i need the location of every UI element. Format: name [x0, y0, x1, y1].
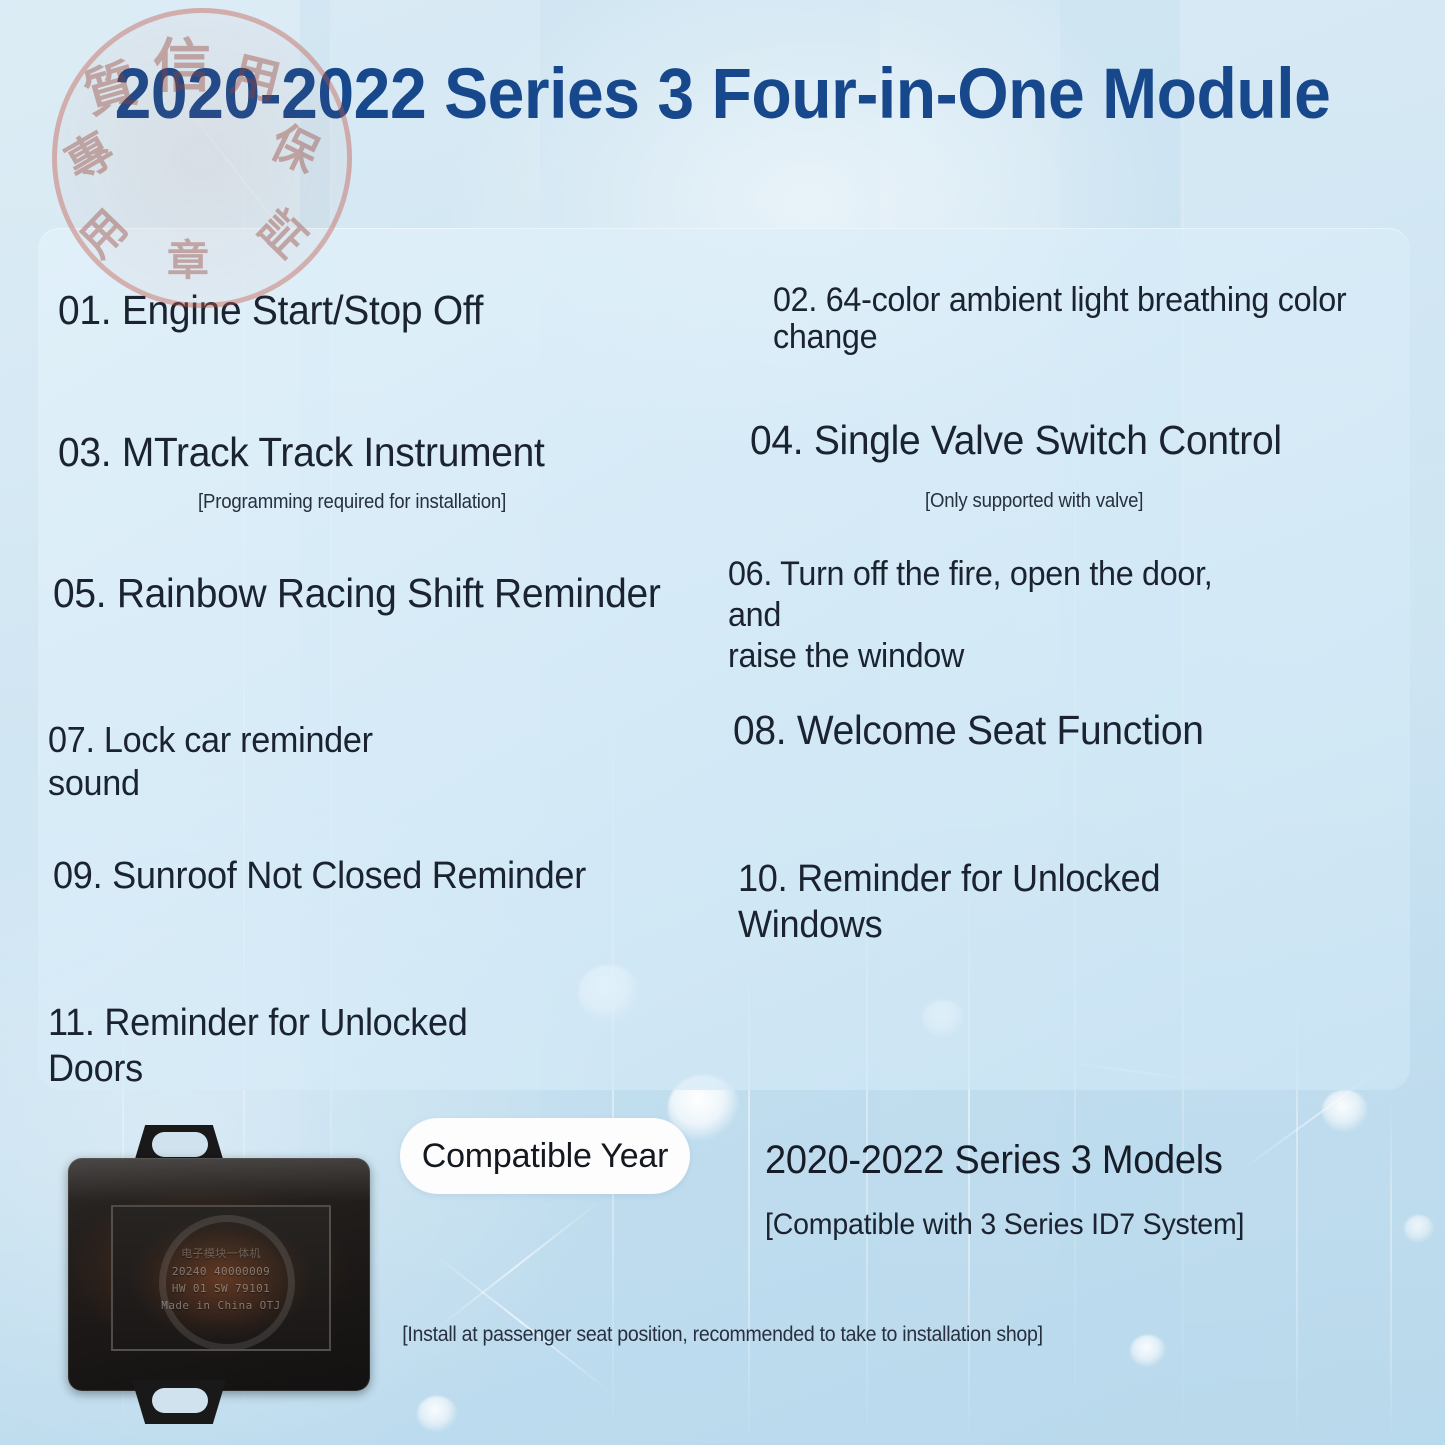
- installation-note: [Install at passenger seat position, rec…: [51, 1323, 1395, 1347]
- features-card: 01. Engine Start/Stop Off 02. 64-color a…: [38, 228, 1410, 1090]
- module-gloss: [68, 1158, 370, 1202]
- feature-label: 04. Single Valve Switch Control: [750, 418, 1377, 462]
- compatible-models: 2020-2022 Series 3 Models: [765, 1138, 1223, 1183]
- feature-item-10: 10. Reminder for Unlocked Windows: [738, 836, 1298, 968]
- feature-item-03: 03. MTrack Track Instrument: [58, 412, 718, 492]
- mounting-hole-bottom: [152, 1388, 208, 1413]
- feature-item-09: 09. Sunroof Not Closed Reminder: [53, 838, 693, 915]
- feature-note-04: [Only supported with valve]: [925, 490, 1143, 513]
- feature-item-04: 04. Single Valve Switch Control: [750, 400, 1410, 480]
- feature-label: 11. Reminder for Unlocked Doors: [48, 1000, 580, 1093]
- feature-item-06: 06. Turn off the fire, open the door, an…: [728, 534, 1288, 697]
- quality-stamp-watermark: 質 信 用 保 証 專 用 章: [52, 8, 352, 308]
- feature-item-11: 11. Reminder for Unlocked Doors: [48, 980, 608, 1112]
- feature-label: 06. Turn off the fire, open the door, an…: [728, 554, 1260, 678]
- feature-label: 10. Reminder for Unlocked Windows: [738, 856, 1270, 949]
- feature-item-05: 05. Rainbow Racing Shift Reminder: [53, 553, 713, 633]
- feature-label: 05. Rainbow Racing Shift Reminder: [53, 571, 680, 615]
- feature-label: 07. Lock car reminder sound: [48, 718, 580, 806]
- feature-label: 09. Sunroof Not Closed Reminder: [53, 856, 661, 897]
- feature-note-03: [Programming required for installation]: [198, 491, 506, 514]
- module-body: 电子模块一体机 20240 40000009 HW 01 SW 79101 Ma…: [68, 1158, 370, 1391]
- compatible-year-pill: Compatible Year: [400, 1118, 690, 1194]
- product-infographic: 2020-2022 Series 3 Four-in-One Module 01…: [0, 0, 1445, 1445]
- feature-item-02: 02. 64-color ambient light breathing col…: [773, 264, 1413, 373]
- feature-label: 02. 64-color ambient light breathing col…: [773, 282, 1381, 355]
- mounting-hole-top: [152, 1132, 208, 1157]
- feature-item-08: 08. Welcome Seat Function: [733, 690, 1373, 770]
- compatible-models-note: [Compatible with 3 Series ID7 System]: [765, 1208, 1244, 1242]
- feature-label: 03. MTrack Track Instrument: [58, 430, 685, 474]
- feature-item-07: 07. Lock car reminder sound: [48, 698, 608, 825]
- compatible-year-label: Compatible Year: [422, 1137, 669, 1176]
- feature-label: 08. Welcome Seat Function: [733, 708, 1341, 752]
